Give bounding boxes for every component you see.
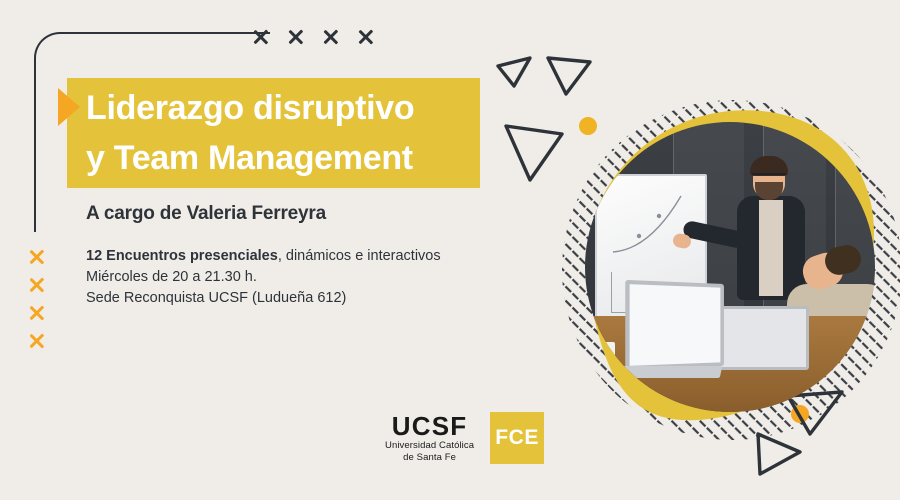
detail-line-venue: Sede Reconquista UCSF (Ludueña 612) <box>86 288 441 309</box>
x-mark-top-3 <box>322 28 340 46</box>
fce-badge: FCE <box>490 412 544 464</box>
detail-line-sessions: 12 Encuentros presenciales, dinámicos e … <box>86 246 441 267</box>
x-mark-left-4 <box>28 332 46 350</box>
triangle-outline-bottom-play <box>758 434 800 474</box>
triangle-outline-large-left <box>506 126 562 180</box>
x-mark-top-1 <box>252 28 270 46</box>
ucsf-acronym: UCSF <box>385 412 474 440</box>
triangle-outline-medium-top <box>548 58 590 94</box>
detail-sessions-rest: , dinámicos e interactivos <box>278 248 441 264</box>
x-mark-left-1 <box>28 248 46 266</box>
x-mark-top-2 <box>287 28 305 46</box>
ucsf-logo: UCSF Universidad Católica de Santa Fe FC… <box>385 412 544 464</box>
ucsf-fullname-line-2: de Santa Fe <box>385 452 474 464</box>
title-line-2: y Team Management <box>86 133 496 183</box>
ucsf-fullname-line-1: Universidad Católica <box>385 440 474 452</box>
detail-line-schedule: Miércoles de 20 a 21.30 h. <box>86 267 441 288</box>
photo-team-meeting <box>585 122 875 412</box>
detail-sessions-count: 12 Encuentros presenciales <box>86 248 278 264</box>
play-triangle-icon <box>58 88 80 126</box>
x-mark-left-3 <box>28 304 46 322</box>
course-details: 12 Encuentros presenciales, dinámicos e … <box>86 246 441 309</box>
instructor-byline: A cargo de Valeria Ferreyra <box>86 203 326 225</box>
x-mark-left-2 <box>28 276 46 294</box>
x-mark-top-4 <box>357 28 375 46</box>
promo-poster: Liderazgo disruptivo y Team Management A… <box>0 0 900 500</box>
page-title: Liderazgo disruptivo y Team Management <box>86 83 496 183</box>
ucsf-fullname: Universidad Católica de Santa Fe <box>385 440 474 464</box>
title-line-1: Liderazgo disruptivo <box>86 83 496 133</box>
triangle-outline-small-top <box>498 58 530 86</box>
ucsf-wordmark: UCSF Universidad Católica de Santa Fe <box>385 412 474 464</box>
